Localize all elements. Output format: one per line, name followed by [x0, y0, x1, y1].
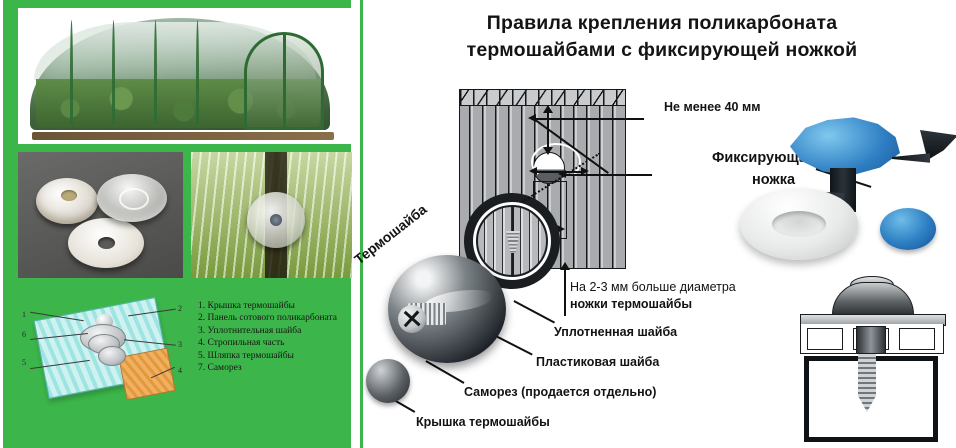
foam-ring-washer	[68, 218, 144, 268]
greenhouse-structure	[30, 18, 338, 136]
greenhouse-door	[244, 32, 324, 130]
sheet-hatching	[460, 90, 625, 106]
blue-cap-photo	[880, 208, 936, 250]
installed-thermowasher	[247, 192, 305, 248]
leader-hole-size-stem	[564, 268, 566, 316]
washer-cap-cover	[366, 359, 410, 403]
screw-photo	[892, 130, 956, 184]
clear-plastic-cap	[97, 174, 167, 222]
center-green-divider	[360, 0, 363, 448]
cad-callout-2: 2	[178, 304, 182, 313]
arrow-head-up	[543, 105, 553, 113]
product-photo-row	[18, 152, 352, 278]
washer-with-foam	[36, 178, 98, 224]
leader-min-distance-h	[534, 118, 644, 120]
cad-callout-1: 1	[22, 310, 26, 319]
thermal-washers-photo	[18, 152, 183, 278]
title-line-2: термошайбами с фиксирующей ножкой	[382, 37, 942, 64]
arrow-head-left	[529, 167, 537, 175]
leader-hole-size	[564, 174, 652, 176]
cad-washer-disc	[98, 346, 126, 366]
label-sealed-washer: Уплотненная шайба	[554, 325, 677, 339]
label-hole-size-line2: ножки термошайбы	[570, 297, 692, 311]
list-item: 3. Уплотнительная шайба	[198, 325, 364, 337]
section-foot-plug	[856, 326, 886, 354]
screw-head-phillips	[398, 305, 426, 333]
list-item: 1. Крышка термошайбы	[198, 300, 364, 312]
parts-legend-list: 1. Крышка термошайбы 2. Панель сотового …	[198, 300, 364, 374]
cad-exploded-view: 1 6 5 2 3 4	[18, 288, 190, 406]
title-line-1: Правила крепления поликарбоната	[382, 10, 942, 37]
cad-callout-5: 5	[22, 358, 26, 367]
fixing-foot-photo	[742, 112, 956, 262]
greenhouse-tunnel	[30, 18, 330, 130]
list-item: 4. Стропильная часть	[198, 337, 364, 349]
thermowasher-assembly-drawing: Термошайба	[364, 195, 564, 425]
greenhouse-base	[32, 132, 334, 140]
list-item: 5. Шляпка термошайбы	[198, 350, 364, 362]
section-cell	[807, 328, 843, 350]
cross-section-drawing	[794, 282, 950, 442]
screw-photo-shaft	[892, 152, 930, 164]
left-column: 1 6 5 2 3 4 1. Крышка термошайбы 2. Пане…	[10, 0, 358, 448]
installed-washer-on-green-panel-photo	[191, 152, 352, 278]
right-column: Правила крепления поликарбоната термошай…	[364, 0, 956, 448]
label-hole-size-line1: На 2-3 мм больше диаметра	[570, 280, 736, 294]
arrow-head-down	[543, 147, 553, 155]
cad-callout-3: 3	[178, 340, 182, 349]
list-item: 2. Панель сотового поликарбоната	[198, 312, 364, 324]
section-cap-dome	[832, 282, 914, 318]
arrow-head-left	[528, 114, 536, 122]
white-foam-ring-photo	[740, 188, 858, 260]
cad-callout-6: 6	[22, 330, 26, 339]
section-cell	[899, 328, 935, 350]
cad-callout-4: 4	[178, 366, 182, 375]
list-item: 7. Саморез	[198, 362, 364, 374]
greenhouse-photo	[18, 8, 352, 144]
page-title: Правила крепления поликарбоната термошай…	[382, 10, 942, 64]
infographic-root: 1 6 5 2 3 4 1. Крышка термошайбы 2. Пане…	[0, 0, 956, 448]
